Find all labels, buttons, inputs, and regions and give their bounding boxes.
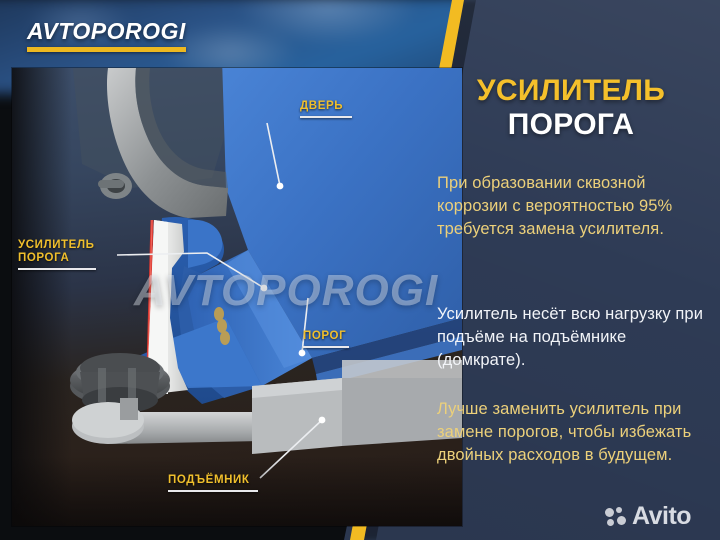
brand-logo-text: AVTOPOROGI [27,20,186,43]
promo-image: AVTOPOROGI [0,0,720,540]
callout-sill: ПОРОГ [303,330,349,348]
callout-door-label: ДВЕРЬ [300,100,352,113]
illustration-panel [12,68,462,526]
callout-door: ДВЕРЬ [300,100,352,118]
avito-watermark: Avito [605,504,691,529]
avito-dots-icon [605,507,627,527]
callout-sill-label: ПОРОГ [303,330,349,343]
avito-wordmark: Avito [632,504,691,529]
headline-line-1: УСИЛИТЕЛЬ [437,74,705,108]
callout-lift-rule [168,490,258,492]
headline-block: УСИЛИТЕЛЬ ПОРОГА [437,74,705,142]
callout-door-rule [300,116,352,118]
callout-sill-reinforcer-label: УСИЛИТЕЛЬ ПОРОГА [18,239,96,265]
headline-line-2: ПОРОГА [437,108,705,142]
illustration-hinge-detail [98,173,132,199]
callout-sill-reinforcer-rule [18,268,96,270]
brand-logo-underline [27,47,186,52]
callout-sill-rule [303,346,349,348]
paragraph-advice: Лучше заменить усилитель при замене поро… [437,398,709,467]
callout-lift-label: ПОДЪЁМНИК [168,474,258,487]
illustration-lift-block [252,360,462,454]
callout-lift: ПОДЪЁМНИК [168,474,258,492]
paragraph-corrosion: При образовании сквозной коррозии с веро… [437,172,709,241]
callout-sill-reinforcer: УСИЛИТЕЛЬ ПОРОГА [18,239,96,270]
brand-logo: AVTOPOROGI [27,20,186,52]
paragraph-load: Усилитель несёт всю нагрузку при подъёме… [437,303,709,372]
